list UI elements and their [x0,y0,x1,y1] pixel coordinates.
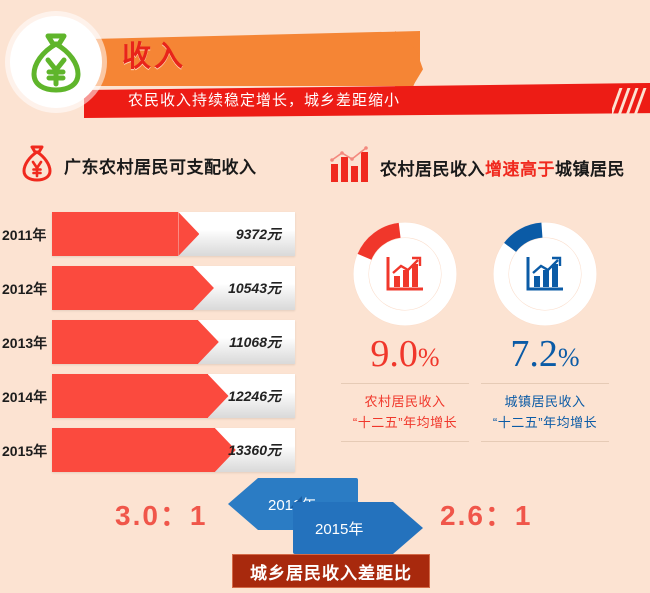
donut-urban-income: 7.2% 城镇居民收入 “十二五”年均增长 [470,222,620,442]
ratio-value-2015: 2.6：1 [440,494,533,534]
donut-caption-line1: 城镇居民收入 [481,391,609,412]
bar-value-label: 9372元 [236,224,281,244]
donut-caption: 城镇居民收入 “十二五”年均增长 [481,383,609,442]
bar-track: 12246元 [52,374,295,418]
donut-rural-income: 9.0% 农村居民收入 “十二五”年均增长 [330,222,480,442]
bar-chart-icon [493,222,597,326]
header-banner: 收入 农民收入持续稳定增长，城乡差距缩小 [0,0,650,126]
bar-year-label: 2012年 [2,279,52,299]
section-title-income: 广东农村居民可支配收入 [20,144,257,187]
bar-value-label: 11068元 [229,332,281,352]
bar-value-label: 13360元 [228,440,281,460]
donut-caption-line2: “十二五”年均增长 [341,412,469,433]
bar-year-label: 2011年 [2,225,52,245]
header-subtitle: 农民收入持续稳定增长，城乡差距缩小 [128,86,400,116]
ratio-banner: 城乡居民收入差距比 [232,554,430,588]
donut-value-number: 7.2 [510,333,558,375]
arrow-right-2015: 2015年 [293,502,423,554]
section-title-part2: 城镇居民 [555,160,625,179]
table-row: 2012年 10543元 [0,266,310,315]
table-row: 2015年 13360元 [0,428,310,477]
section-title-label: 农村居民收入增速高于城镇居民 [380,155,625,180]
money-bag-icon [20,144,54,187]
section-title-part1: 农村居民收入 [380,160,485,179]
bar-fill [52,320,198,364]
ratio-value-2010: 3.0：1 [115,494,208,534]
section-title-growth: 农村居民收入增速高于城镇居民 [328,146,625,189]
bar-fill [52,428,215,472]
table-row: 2011年 9372元 [0,212,310,261]
header-title: 收入 [122,35,186,79]
donut-value: 9.0% [330,335,480,373]
bar-track: 11068元 [52,320,295,364]
donut-caption: 农村居民收入 “十二五”年均增长 [341,383,469,442]
bar-fill [52,374,208,418]
donut-value: 7.2% [470,335,620,373]
bar-track: 10543元 [52,266,295,310]
ratio-arrows: 2010年 2015年 [228,478,423,554]
table-row: 2013年 11068元 [0,320,310,369]
donut-caption-line1: 农村居民收入 [341,391,469,412]
bar-value-label: 10543元 [228,278,281,298]
income-bar-chart: 2011年 9372元 2012年 10543元 2013年 11068元 20… [0,212,310,482]
bar-year-label: 2013年 [2,333,52,353]
bar-value-label: 12246元 [228,386,281,406]
bar-fill [52,212,178,256]
money-bag-icon [26,30,86,99]
bar-chart-icon [353,222,457,326]
donut-value-unit: % [418,343,440,372]
donut-value-number: 9.0 [370,333,418,375]
donut-value-unit: % [558,343,580,372]
bar-track: 9372元 [52,212,295,256]
table-row: 2014年 12246元 [0,374,310,423]
header-stripes-decor [612,88,650,116]
arrow-right-label: 2015年 [315,518,363,539]
section-title-label: 广东农村居民可支配收入 [64,153,257,178]
section-title-highlight: 增速高于 [485,160,555,179]
bar-chart-icon [328,146,370,189]
infographic-canvas: 收入 农民收入持续稳定增长，城乡差距缩小 广东农村居民可支配收入 [0,0,650,593]
donut-chart [353,222,457,326]
donut-caption-line2: “十二五”年均增长 [481,412,609,433]
bar-year-label: 2015年 [2,441,52,461]
donut-chart [493,222,597,326]
bar-year-label: 2014年 [2,387,52,407]
bar-track: 13360元 [52,428,295,472]
bar-fill [52,266,193,310]
